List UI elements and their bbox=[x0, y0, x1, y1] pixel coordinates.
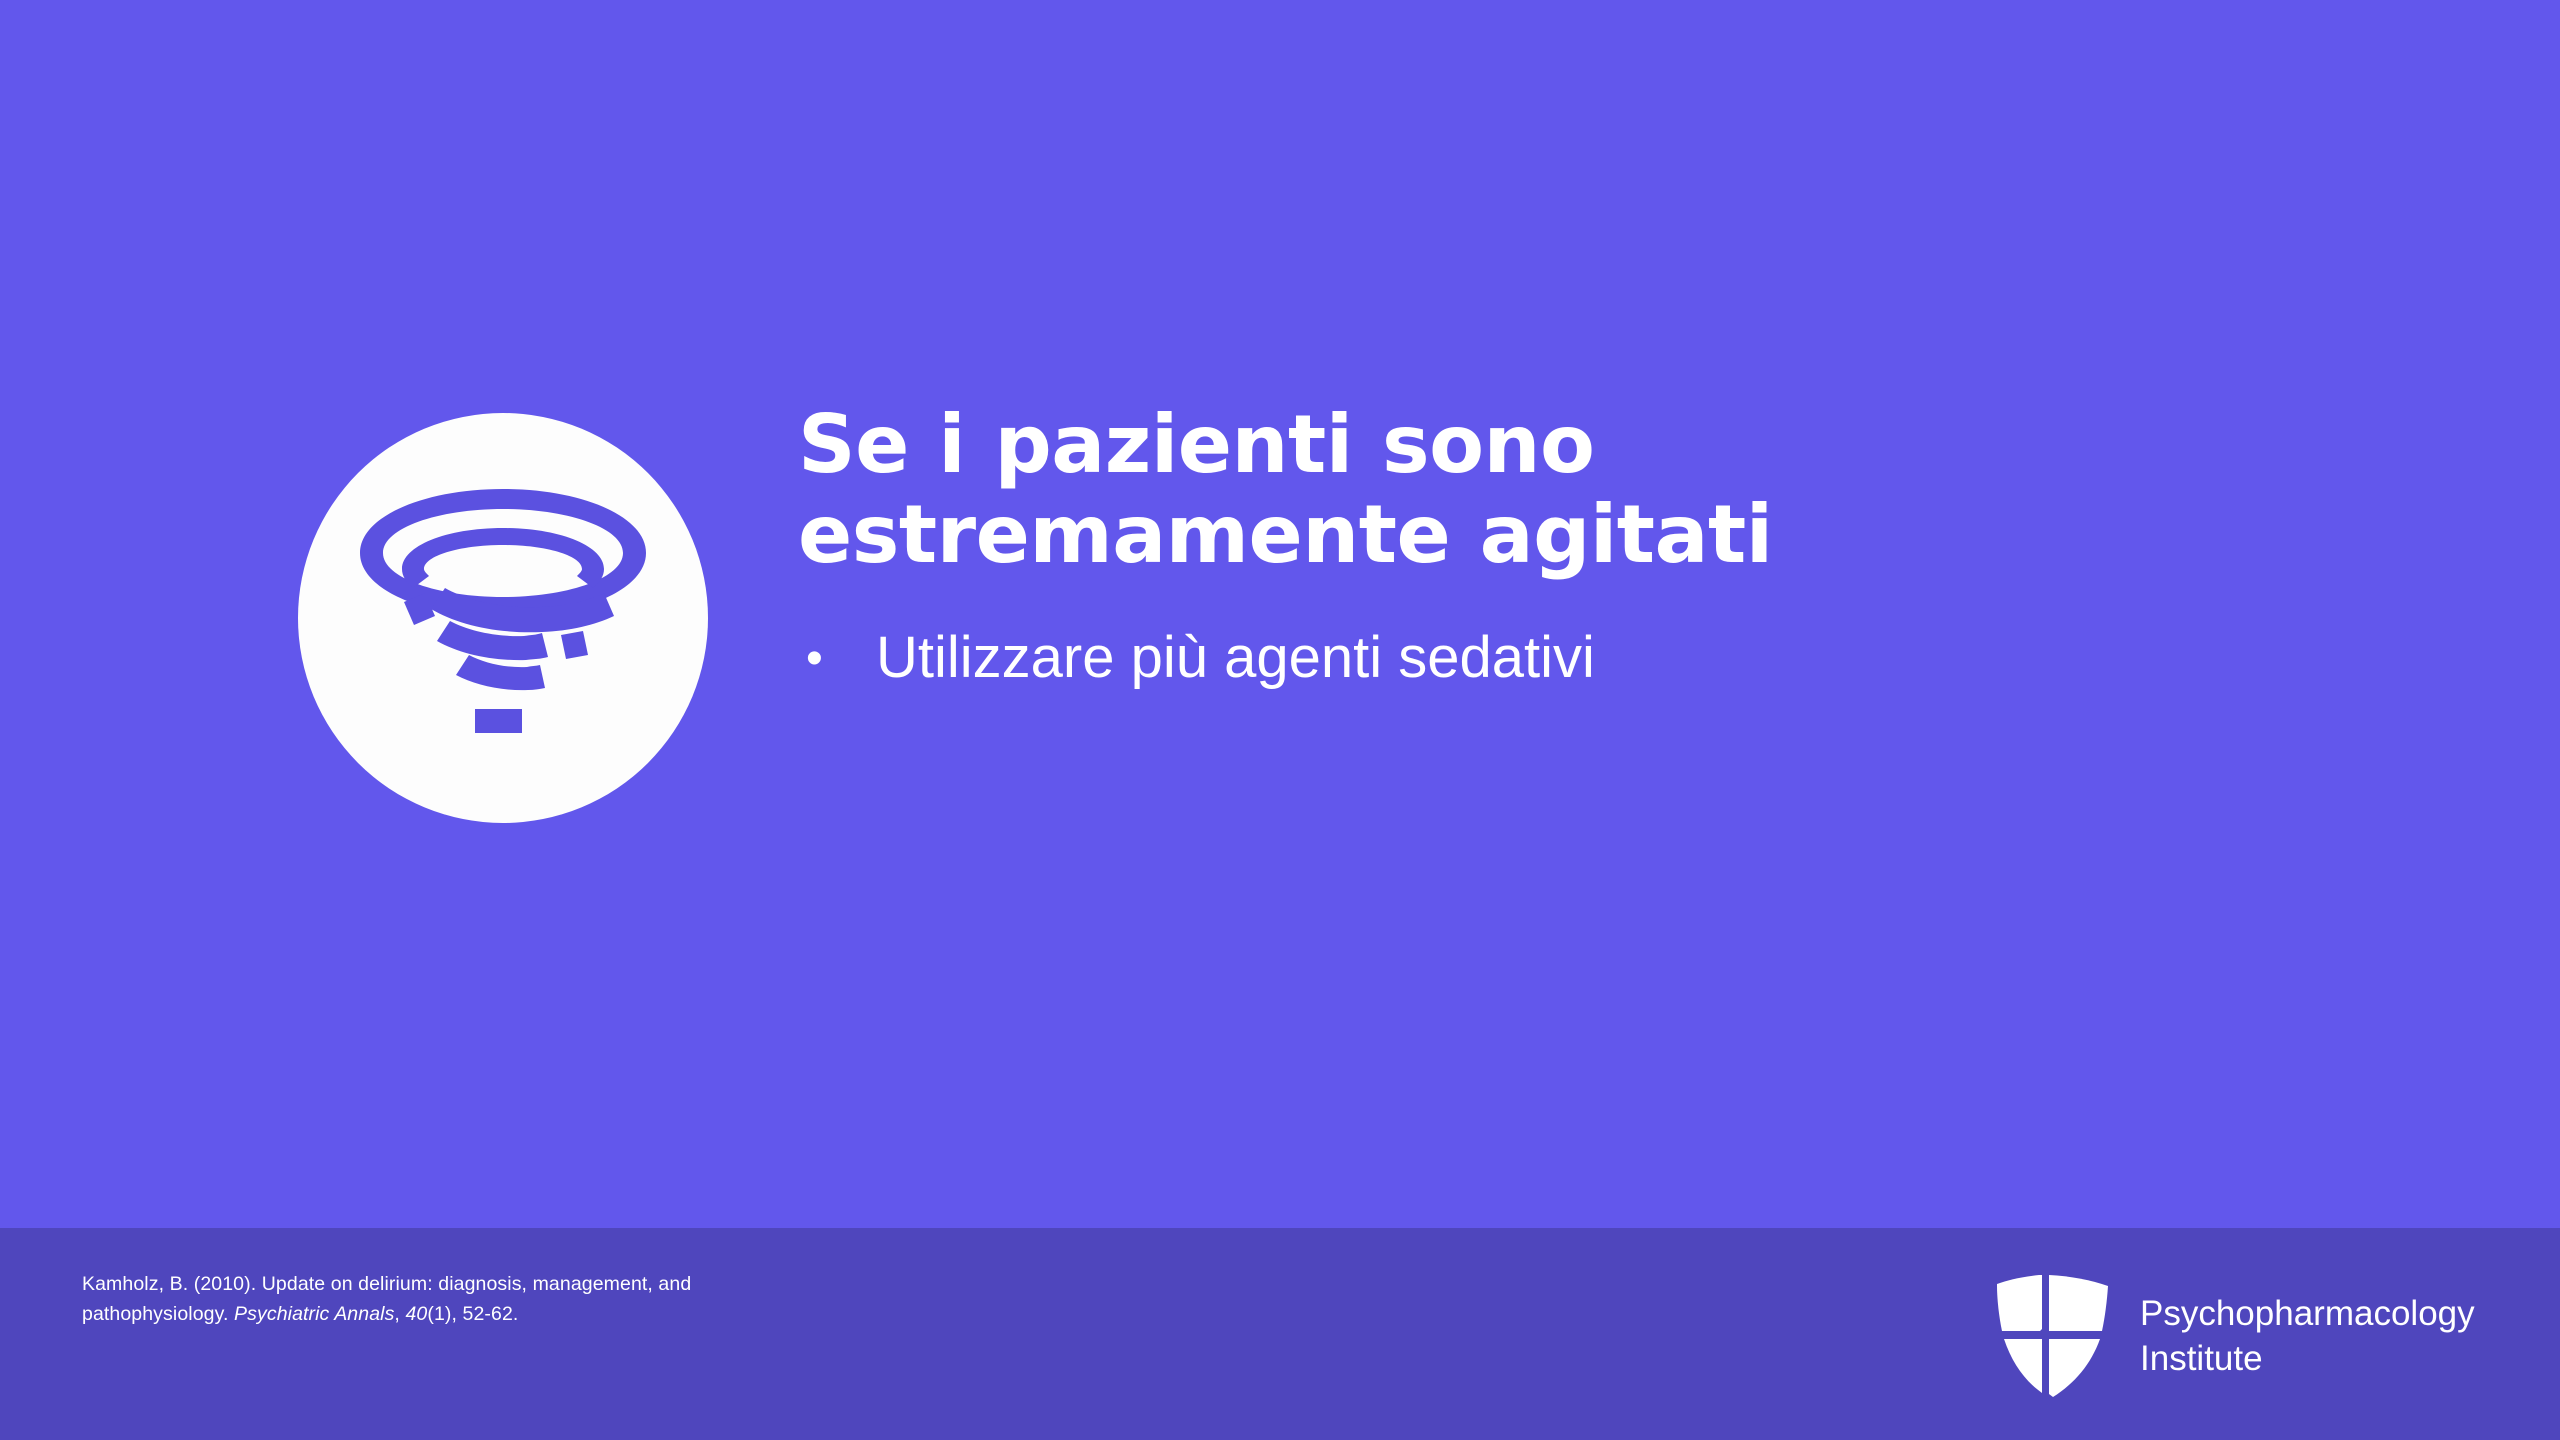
bullet-marker-icon: • bbox=[806, 623, 823, 694]
bullet-item-label: Utilizzare più agenti sedativi bbox=[876, 625, 1595, 690]
citation-text-part2: , bbox=[394, 1303, 405, 1325]
citation-reference: Kamholz, B. (2010). Update on delirium: … bbox=[82, 1270, 842, 1329]
citation-journal-name: Psychiatric Annals bbox=[234, 1303, 394, 1325]
bullet-item: • Utilizzare più agenti sedativi bbox=[798, 623, 2158, 694]
bullet-list: • Utilizzare più agenti sedativi bbox=[798, 623, 2158, 694]
slide-body-area: Se i pazienti sono estremamente agitati … bbox=[0, 0, 2560, 1228]
slide-footer-band: Kamholz, B. (2010). Update on delirium: … bbox=[0, 1228, 2560, 1440]
slide-title: Se i pazienti sono estremamente agitati bbox=[798, 400, 2158, 579]
slide-text-column: Se i pazienti sono estremamente agitati … bbox=[798, 400, 2158, 694]
presentation-slide: Se i pazienti sono estremamente agitati … bbox=[0, 0, 2560, 1440]
citation-volume: 40 bbox=[405, 1303, 427, 1325]
citation-text-part3: (1), 52-62. bbox=[427, 1303, 518, 1325]
brand-name-line2: Institute bbox=[2140, 1337, 2475, 1382]
tornado-icon bbox=[298, 413, 708, 823]
brand-name-line1: Psychopharmacology bbox=[2140, 1292, 2475, 1337]
brand-wordmark: Psychopharmacology Institute bbox=[2140, 1292, 2475, 1382]
icon-medallion bbox=[298, 413, 708, 823]
shield-icon bbox=[1994, 1273, 2112, 1401]
brand-logo: Psychopharmacology Institute bbox=[1994, 1273, 2475, 1401]
